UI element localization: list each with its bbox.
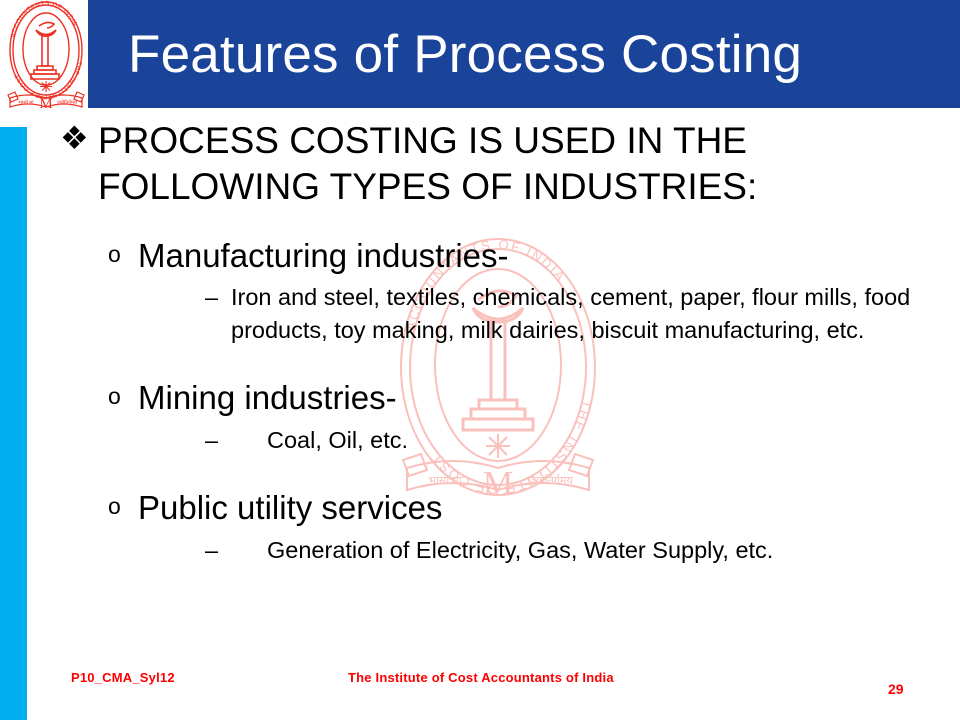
spacer (0, 456, 960, 476)
bullet-level2-mining: o Mining industries- (108, 378, 898, 418)
circle-bullet-icon: o (108, 493, 121, 521)
slide: ACCOUNTANTS OF INDIA THE INSTITUTE OF CO… (0, 0, 960, 720)
bullet-level3-mining-detail: – Coal, Oil, etc. (205, 424, 957, 456)
bullet-level2-text: Mining industries- (138, 379, 397, 416)
page-title: Features of Process Costing (128, 8, 952, 100)
svg-text:M: M (39, 96, 52, 112)
bullet-level3-manufacturing-detail: – Iron and steel, textiles, chemicals, c… (205, 281, 921, 346)
bullet-level3-text: Coal, Oil, etc. (267, 427, 408, 453)
bullet-level1: ❖ PROCESS COSTING IS USED IN THE FOLLOWI… (60, 118, 888, 210)
institute-logo-icon: ACCOUNTANTS OF INDIA THE INSTITUTE OF CO… (4, 0, 88, 118)
footer-institute-name: The Institute of Cost Accountants of Ind… (348, 670, 614, 685)
bullet-level2-text: Public utility services (138, 489, 442, 526)
dash-bullet-icon: – (205, 281, 218, 313)
svg-text:ज्योतिर्गमय: ज्योतिर्गमय (57, 99, 77, 106)
title-banner: Features of Process Costing (88, 0, 960, 108)
svg-text:भासो मा: भासो मा (18, 99, 34, 106)
spacer (0, 346, 960, 366)
dash-bullet-icon: – (205, 534, 218, 566)
slide-body: ❖ PROCESS COSTING IS USED IN THE FOLLOWI… (0, 118, 960, 638)
footer-page-number: 29 (888, 681, 904, 697)
svg-text:ACCOUNTANTS OF INDIA: ACCOUNTANTS OF INDIA (10, 1, 78, 38)
bullet-level2-public-utility: o Public utility services (108, 488, 898, 528)
spacer (0, 210, 960, 224)
circle-bullet-icon: o (108, 383, 121, 411)
bullet-level2-text: Manufacturing industries- (138, 237, 509, 274)
dash-bullet-icon: – (205, 424, 218, 456)
bullet-level1-text: PROCESS COSTING IS USED IN THE FOLLOWING… (98, 120, 757, 207)
diamond-bullet-icon: ❖ (60, 119, 89, 159)
footer-syllabus-code: P10_CMA_Syl12 (71, 670, 175, 685)
bullet-level3-public-utility-detail: – Generation of Electricity, Gas, Water … (205, 534, 927, 566)
bullet-level2-manufacturing: o Manufacturing industries- (108, 236, 898, 276)
bullet-level3-text: Iron and steel, textiles, chemicals, cem… (231, 284, 910, 342)
bullet-level3-text: Generation of Electricity, Gas, Water Su… (267, 537, 773, 563)
circle-bullet-icon: o (108, 241, 121, 269)
